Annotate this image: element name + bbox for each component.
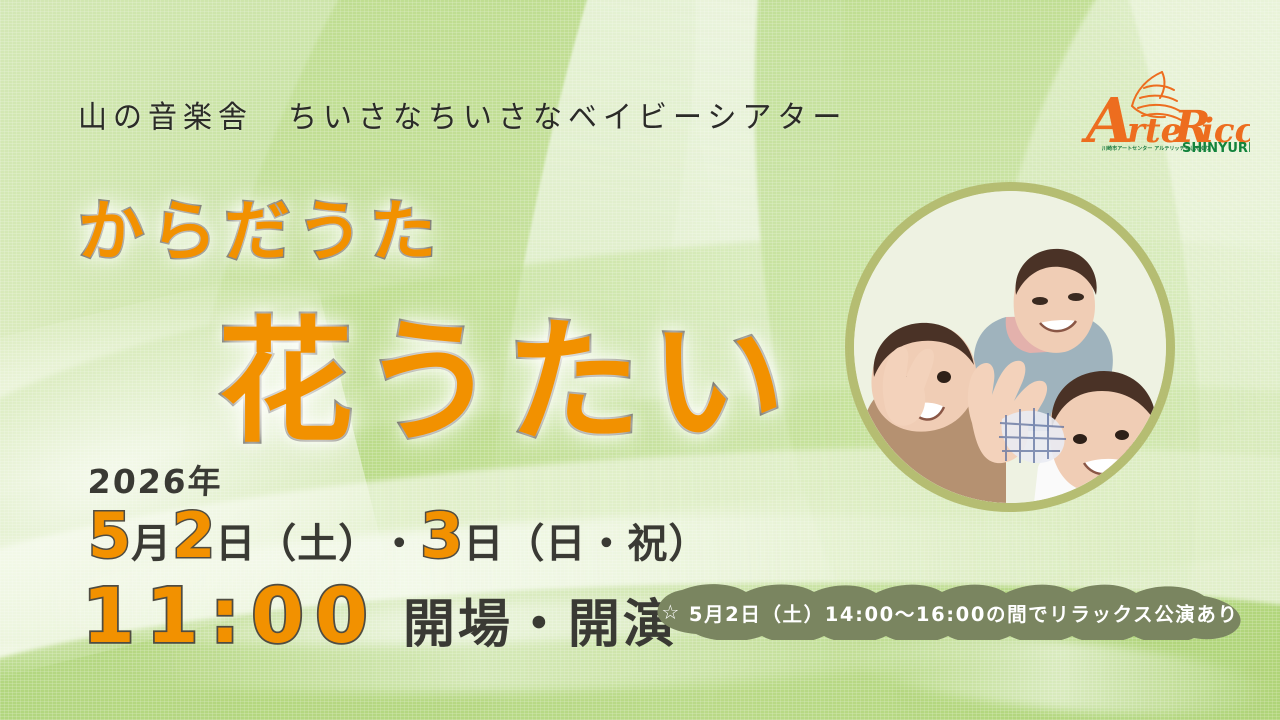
date-block: 2026年 5 月 2 日 （土） ・ 3 日 （日・祝） bbox=[88, 455, 709, 567]
logo-artwork: A rte R icca SHINYURI bbox=[1070, 58, 1250, 158]
logo-subtext: 川崎市アートセンター アルテリッチャしんゆり bbox=[1073, 145, 1238, 152]
date-day2-weekday: （日・祝） bbox=[504, 524, 709, 564]
time-value: 11:00 bbox=[82, 578, 379, 654]
photo-illustration bbox=[854, 191, 1166, 503]
date-day1-weekday: （土） bbox=[256, 524, 379, 564]
date-day1-unit: 日 bbox=[215, 524, 256, 564]
relax-performance-banner: ☆ 5月2日（土）14:00〜16:00の間でリラックス公演あり bbox=[648, 584, 1252, 640]
banner-message: 5月2日（土）14:00〜16:00の間でリラックス公演あり bbox=[689, 598, 1239, 627]
banner-text-row: ☆ 5月2日（土）14:00〜16:00の間でリラックス公演あり bbox=[648, 584, 1252, 640]
poster-canvas: A rte R icca SHINYURI 川崎市アートセンター アルテリッチャ… bbox=[0, 0, 1280, 720]
date-month-number: 5 bbox=[88, 505, 131, 567]
date-separator: ・ bbox=[379, 524, 420, 564]
date-day1-number: 2 bbox=[172, 505, 215, 567]
subtitle-karadauta: からだうた bbox=[78, 178, 443, 274]
date-day2-unit: 日 bbox=[463, 524, 504, 564]
date-month-unit: 月 bbox=[131, 524, 172, 564]
date-main-line: 5 月 2 日 （土） ・ 3 日 （日・祝） bbox=[88, 505, 709, 567]
header-tagline: 山の音楽舎 ちいさなちいさなベイビーシアター bbox=[78, 93, 847, 138]
date-day2-number: 3 bbox=[420, 505, 463, 567]
time-label: 開場・開演 bbox=[403, 599, 678, 651]
arte-ricca-logo: A rte R icca SHINYURI 川崎市アートセンター アルテリッチャ… bbox=[1070, 58, 1250, 158]
time-block: 11:00 開場・開演 bbox=[82, 578, 678, 654]
main-title-hanautai: 花うたい bbox=[218, 272, 794, 468]
photo-circle-frame bbox=[845, 182, 1175, 512]
photo-babies bbox=[854, 191, 1166, 503]
date-year: 2026年 bbox=[87, 455, 224, 503]
star-icon: ☆ bbox=[661, 602, 681, 622]
